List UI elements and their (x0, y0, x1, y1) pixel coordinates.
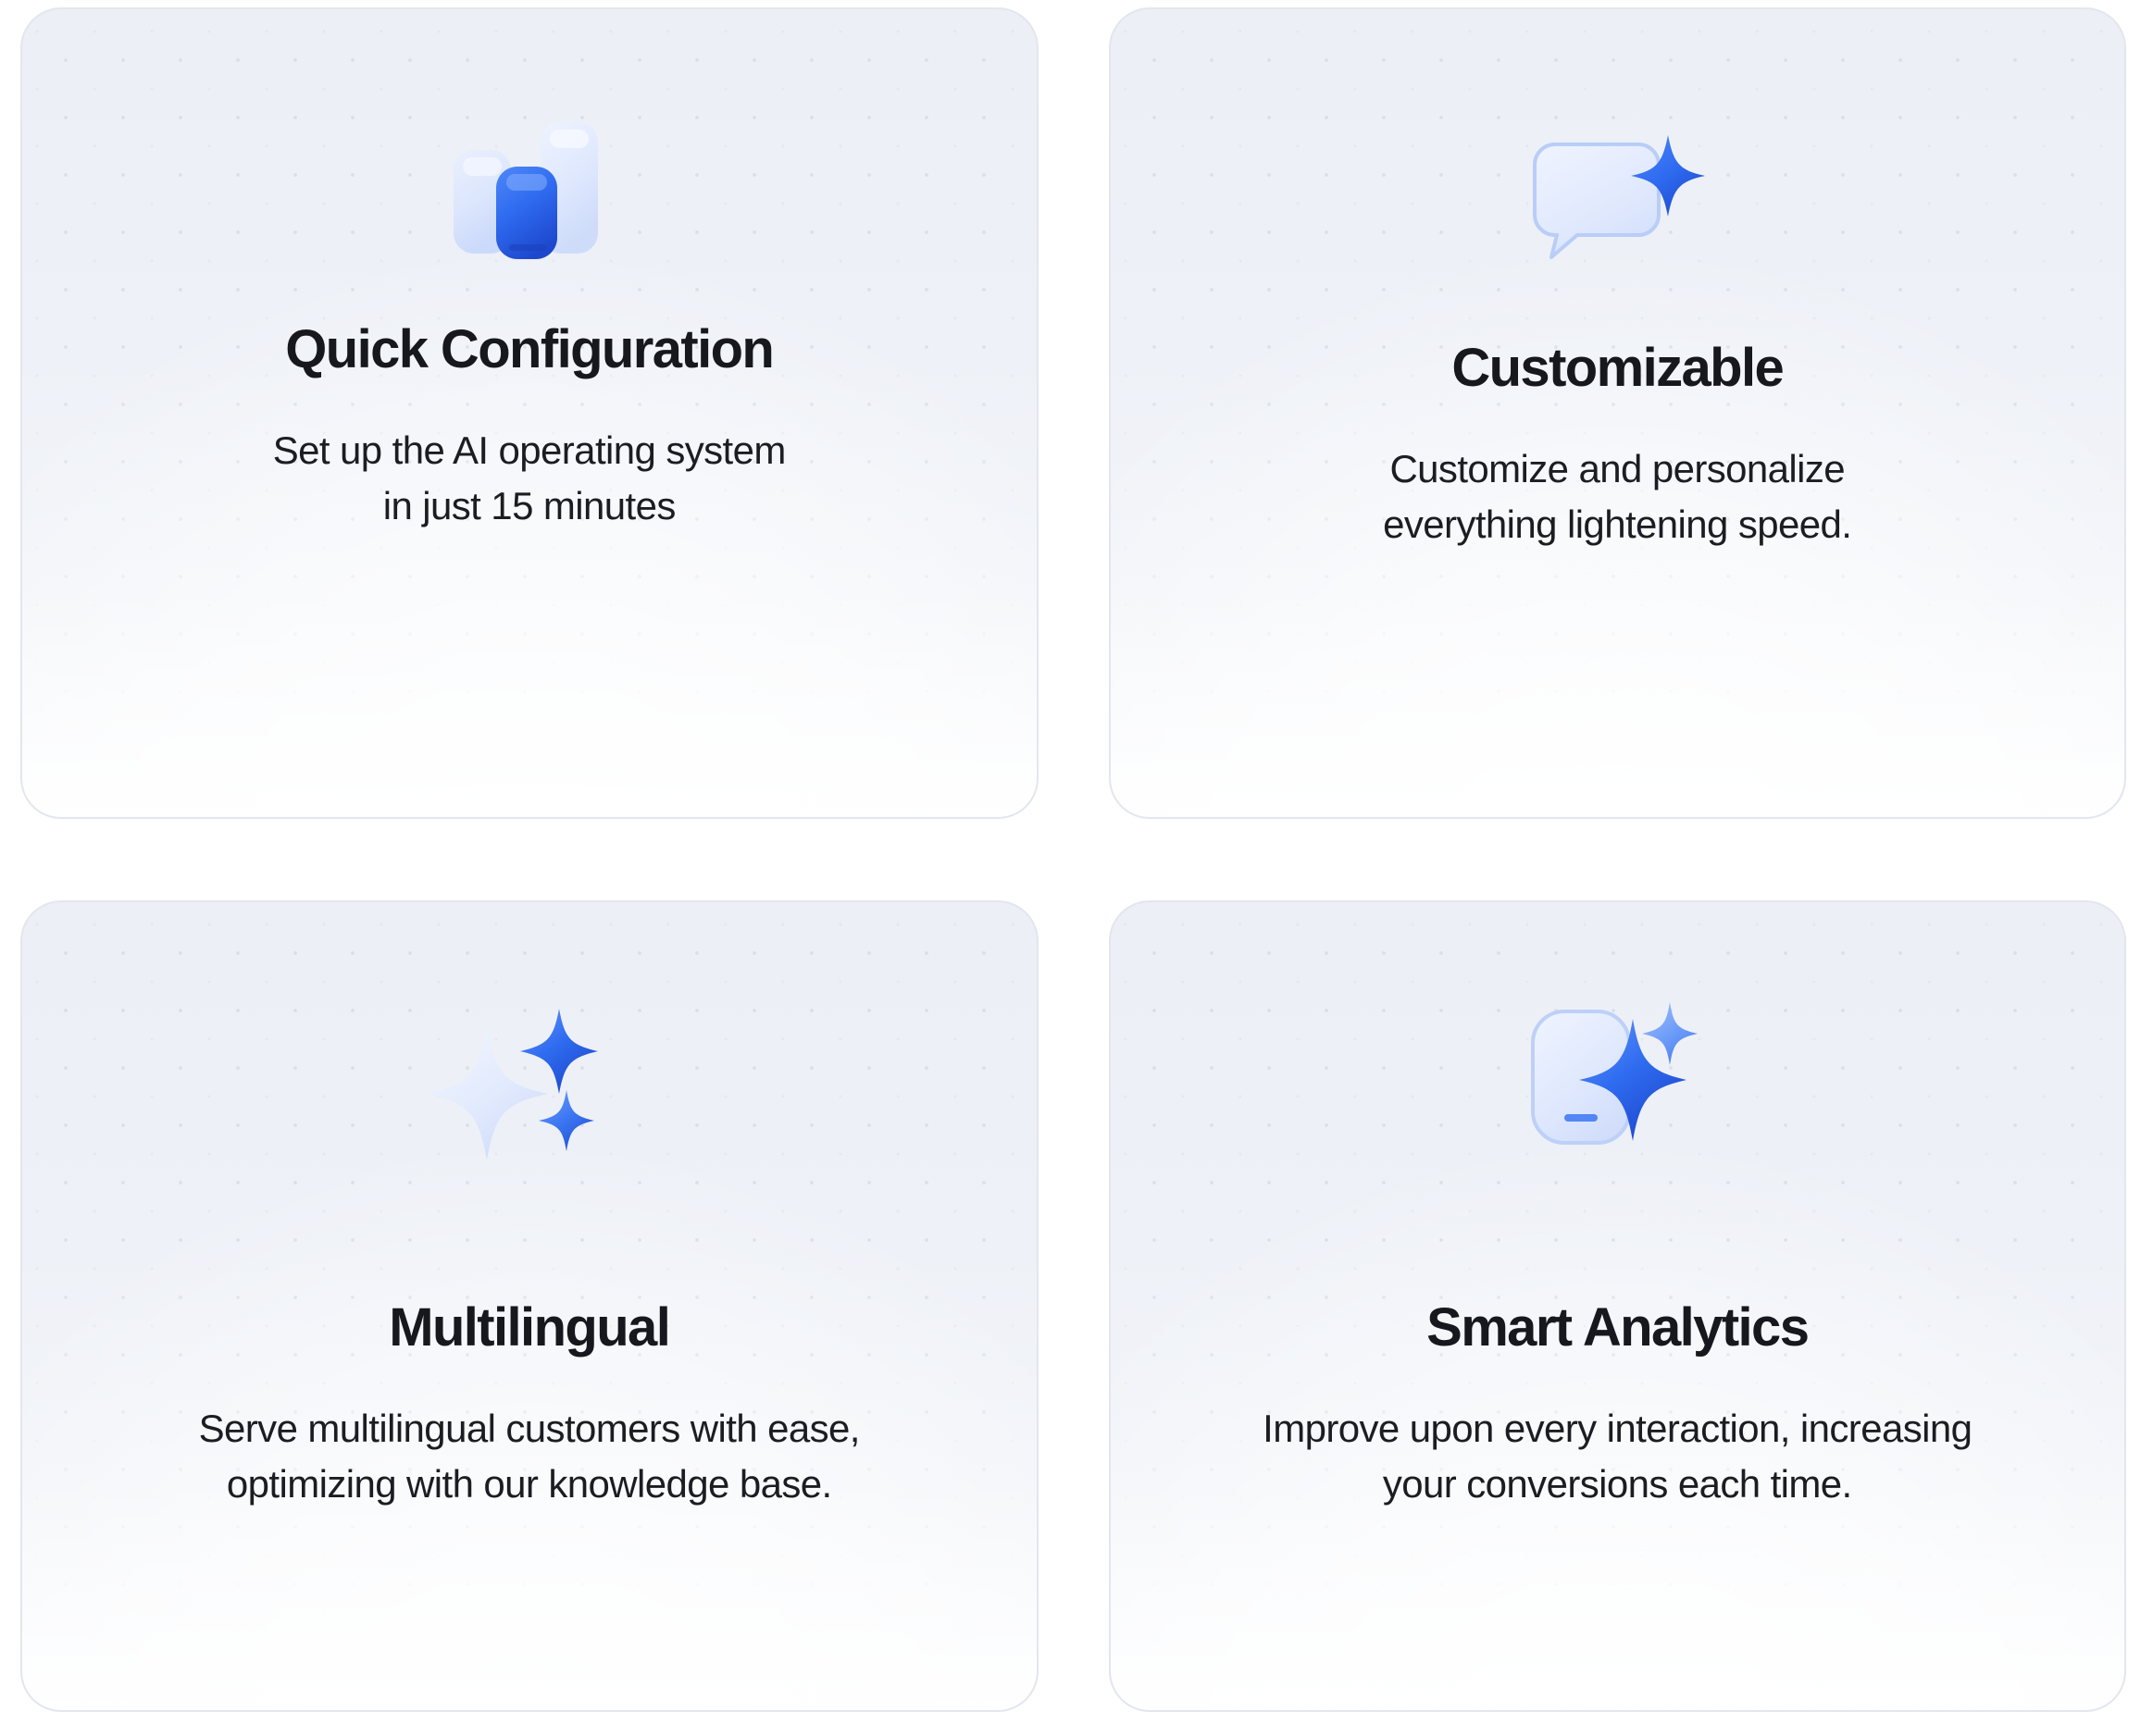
card-title: Multilingual (389, 1300, 669, 1357)
card-description-line: Set up the AI operating system (273, 423, 786, 478)
bar-chart-icon (437, 130, 622, 250)
feature-card-grid: Quick Configuration Set up the AI operat… (0, 0, 2153, 1736)
feature-card-multilingual[interactable]: Multilingual Serve multilingual customer… (20, 900, 1039, 1712)
sparkles-icon (429, 1004, 628, 1152)
phone-sparkle-icon (1520, 997, 1714, 1156)
card-description-line: your conversions each time. (1263, 1457, 1972, 1512)
card-description-line: Serve multilingual customers with ease, (199, 1401, 860, 1457)
card-description: Serve multilingual customers with ease, … (199, 1401, 860, 1511)
card-description-line: Improve upon every interaction, increasi… (1263, 1401, 1972, 1457)
card-description-line: optimizing with our knowledge base. (199, 1457, 860, 1512)
card-title: Quick Configuration (285, 322, 773, 378)
feature-card-customizable[interactable]: Customizable Customize and personalize e… (1109, 7, 2127, 819)
card-description: Customize and personalize everything lig… (1383, 441, 1851, 552)
card-title: Smart Analytics (1426, 1300, 1808, 1357)
card-description-line: in just 15 minutes (273, 478, 786, 534)
feature-card-quick-configuration[interactable]: Quick Configuration Set up the AI operat… (20, 7, 1039, 819)
chat-sparkle-icon (1520, 148, 1714, 250)
card-description-line: Customize and personalize (1383, 441, 1851, 497)
card-title: Customizable (1451, 341, 1783, 397)
card-description: Set up the AI operating system in just 1… (273, 423, 786, 533)
feature-card-smart-analytics[interactable]: Smart Analytics Improve upon every inter… (1109, 900, 2127, 1712)
card-description: Improve upon every interaction, increasi… (1263, 1401, 1972, 1511)
card-description-line: everything lightening speed. (1383, 497, 1851, 552)
